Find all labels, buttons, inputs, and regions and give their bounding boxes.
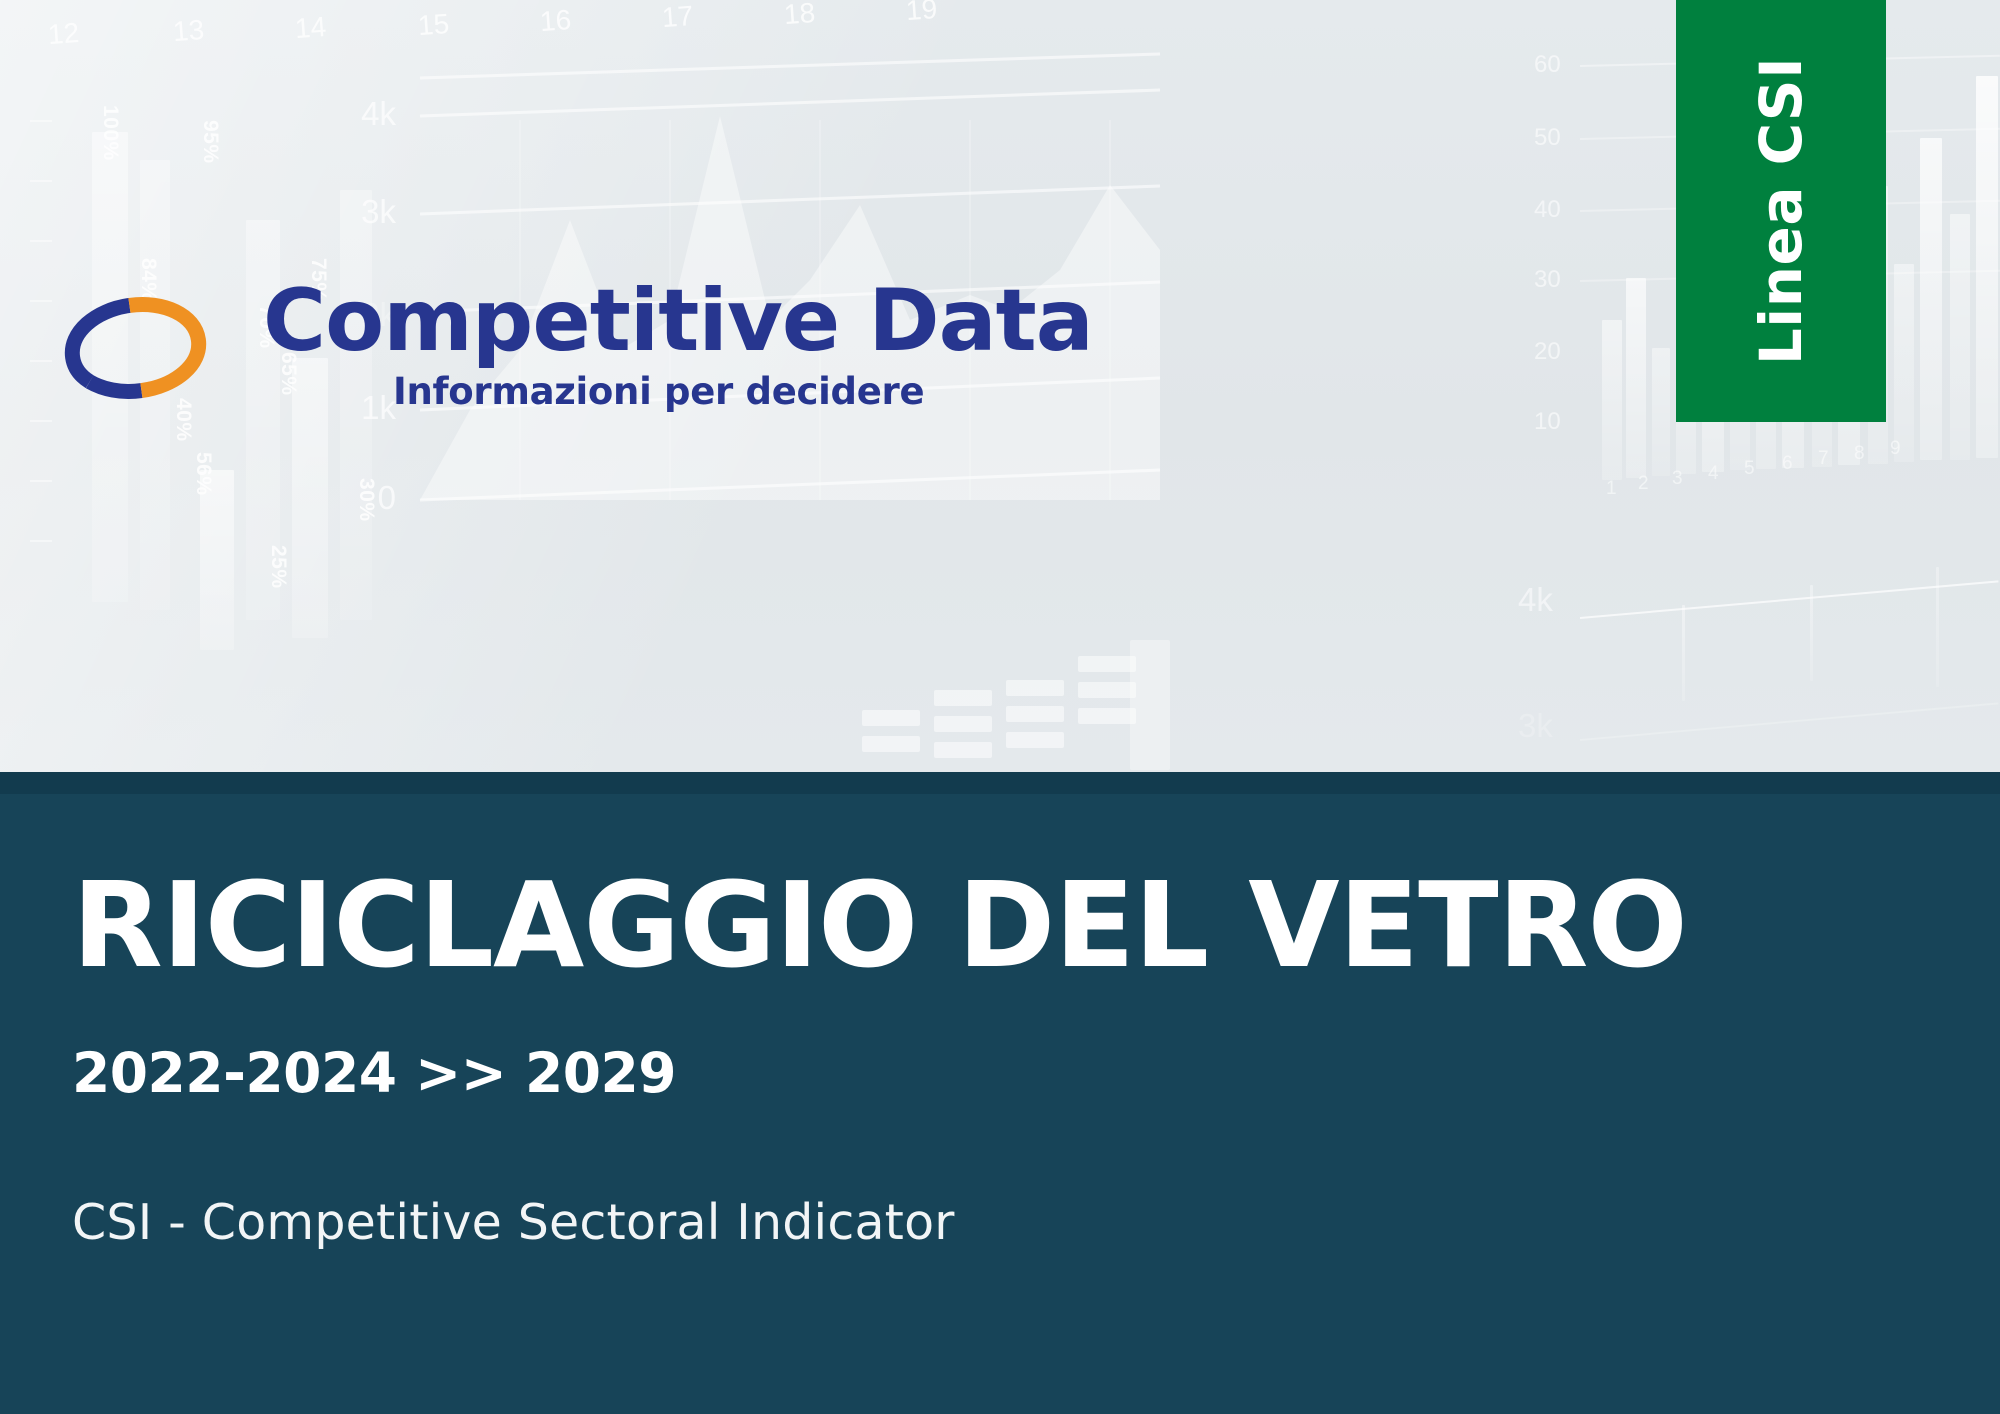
- bar: [1652, 348, 1670, 476]
- table-cell: [1078, 656, 1136, 672]
- bar: [1602, 320, 1622, 480]
- br-chart-ytick-4k: 4k: [1518, 581, 1553, 619]
- right-chart-xtick-6: 6: [1782, 453, 1793, 475]
- right-chart-ytick-10: 10: [1534, 408, 1561, 436]
- indicator-subtitle: CSI - Competitive Sectoral Indicator: [72, 1198, 955, 1247]
- bar: [1920, 138, 1942, 460]
- table-cell: [1006, 732, 1064, 748]
- table-cell: [934, 742, 992, 758]
- table-cell: [1130, 640, 1170, 770]
- bar-label-30: 30%: [354, 478, 378, 522]
- bottom-right-chart: 4k 3k: [1470, 555, 2000, 772]
- axis-tick: [30, 420, 52, 422]
- right-chart-xtick-5: 5: [1744, 458, 1755, 480]
- axis-tick: [30, 240, 52, 242]
- table-cell: [1006, 680, 1064, 696]
- bar: [1950, 214, 1970, 460]
- bar-label-95: 95%: [198, 120, 222, 164]
- right-chart-ytick-60: 60: [1534, 51, 1561, 79]
- brand-logo: Competitive Data Informazioni per decide…: [58, 290, 1118, 450]
- right-chart-ytick-30: 30: [1534, 266, 1561, 294]
- bar: [1810, 585, 1813, 681]
- axis-tick: [30, 480, 52, 482]
- right-chart-ytick-50: 50: [1534, 124, 1561, 152]
- table-cell: [1078, 682, 1136, 698]
- table-cell: [934, 716, 992, 732]
- bar: [1936, 567, 1939, 687]
- bar: [1682, 605, 1685, 701]
- brand-name: Competitive Data: [263, 278, 1093, 364]
- bar-label-100: 100%: [98, 105, 122, 161]
- right-chart-ytick-20: 20: [1534, 338, 1561, 366]
- table-cell: [1078, 708, 1136, 724]
- brand-tagline: Informazioni per decidere: [393, 370, 1093, 413]
- br-chart-ytick-3k: 3k: [1518, 707, 1553, 745]
- right-chart-ytick-40: 40: [1534, 196, 1561, 224]
- right-chart-xtick-8: 8: [1854, 443, 1865, 465]
- axis-tick: [30, 360, 52, 362]
- center-chart-ytick-4k: 4k: [361, 95, 396, 133]
- right-chart-xtick-4: 4: [1708, 463, 1719, 485]
- center-chart-ytick-0: 0: [378, 479, 396, 517]
- bar: [1976, 76, 1998, 458]
- axis-tick: [30, 180, 52, 182]
- hero-banner: 12 13 14 15 16 17 18 19: [0, 0, 2000, 772]
- table-cell: [934, 690, 992, 706]
- right-chart-xtick-7: 7: [1818, 448, 1829, 470]
- right-chart-xtick-1: 1: [1606, 478, 1617, 500]
- bar: [200, 470, 234, 650]
- axis-tick: [30, 300, 52, 302]
- center-chart-ytick-3k: 3k: [361, 193, 396, 231]
- bar-label-56: 56%: [191, 452, 215, 496]
- title-band-top-edge: [0, 772, 2000, 794]
- page-title: RICICLAGGIO DEL VETRO: [72, 866, 1687, 984]
- axis-tick: [30, 120, 52, 122]
- linea-csi-badge: Linea CSI: [1676, 0, 1886, 422]
- period-subtitle: 2022-2024 >> 2029: [72, 1046, 676, 1101]
- table-cell: [862, 736, 920, 752]
- bar: [1894, 264, 1914, 462]
- brand-logo-text: Competitive Data Informazioni per decide…: [263, 278, 1093, 413]
- cover-page: 12 13 14 15 16 17 18 19: [0, 0, 2000, 1414]
- linea-csi-badge-label: Linea CSI: [1747, 57, 1815, 365]
- bar: [1626, 278, 1646, 478]
- ellipse-ring-logo-icon: [58, 296, 213, 401]
- axis-tick: [30, 540, 52, 542]
- right-chart-xtick-2: 2: [1638, 473, 1649, 495]
- grid-line: [1580, 702, 1999, 741]
- bar-label-25: 25%: [266, 545, 290, 589]
- table-cell: [1006, 706, 1064, 722]
- right-chart-xtick-9: 9: [1890, 438, 1901, 460]
- table-cell: [862, 710, 920, 726]
- right-chart-xtick-3: 3: [1672, 468, 1683, 490]
